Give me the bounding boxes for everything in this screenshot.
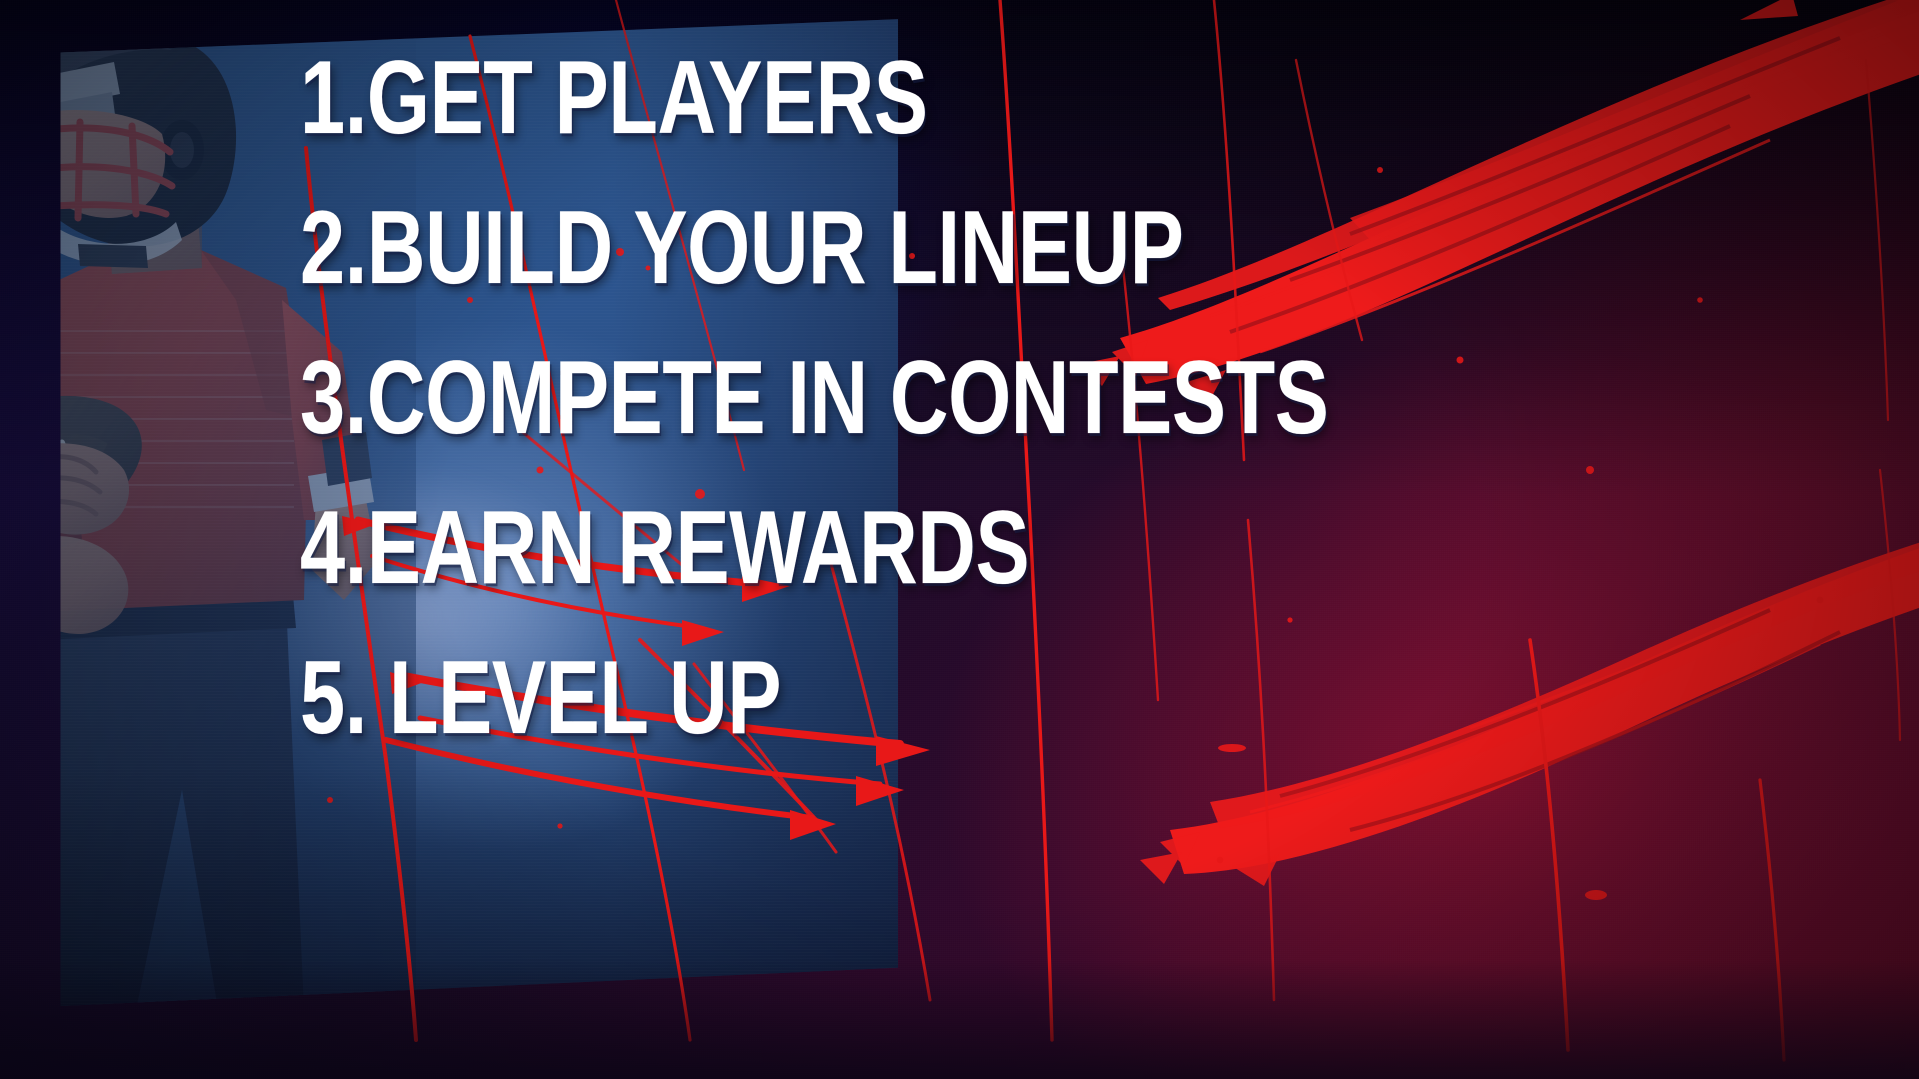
step-label-5: 5. LEVEL UP — [300, 646, 781, 750]
bottom-fade — [0, 959, 1919, 1079]
step-item-1: 1.GET PLAYERS — [300, 46, 1158, 150]
step-item-5: 5. LEVEL UP — [300, 646, 1158, 750]
promo-banner-stage: 1.GET PLAYERS 2.BUILD YOUR LINEUP 3.COMP… — [0, 0, 1919, 1079]
steps-list: 1.GET PLAYERS 2.BUILD YOUR LINEUP 3.COMP… — [300, 46, 1400, 750]
step-item-4: 4.EARN REWARDS — [300, 496, 1158, 600]
step-label-3: 3.COMPETE IN CONTESTS — [300, 346, 1328, 450]
step-item-2: 2.BUILD YOUR LINEUP — [300, 196, 1158, 300]
step-item-3: 3.COMPETE IN CONTESTS — [300, 346, 1158, 450]
step-label-2: 2.BUILD YOUR LINEUP — [300, 196, 1184, 300]
step-label-1: 1.GET PLAYERS — [300, 46, 928, 150]
step-label-4: 4.EARN REWARDS — [300, 496, 1029, 600]
